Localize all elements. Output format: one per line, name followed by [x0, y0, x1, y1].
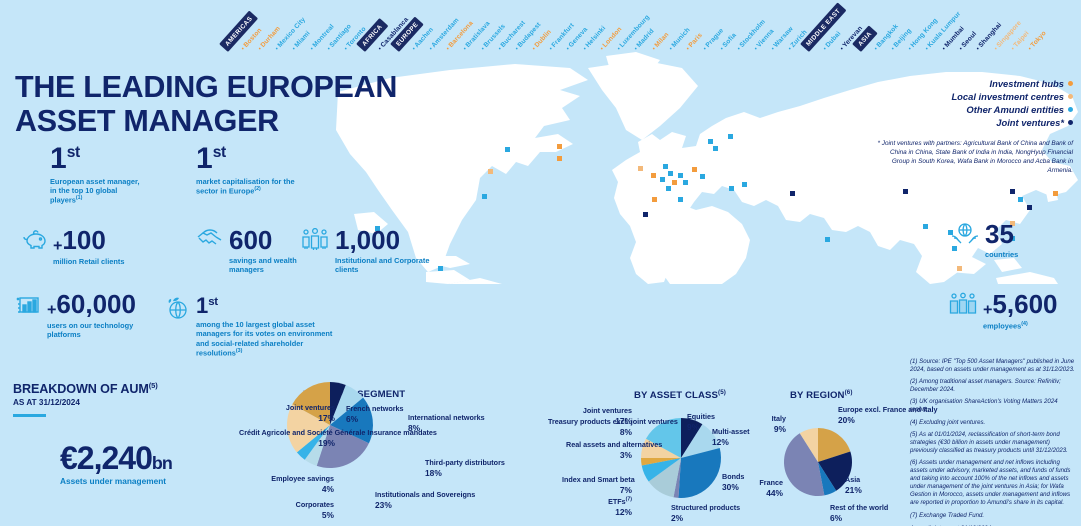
pie-label-name: Rest of the world [830, 503, 888, 512]
kpi-number: 60,000 [56, 289, 136, 319]
map-location-dot [1027, 205, 1032, 210]
pie-label-note: (7) [626, 497, 632, 503]
map-legend-footnote: * Joint ventures with partners: Agricult… [873, 139, 1073, 175]
pie-label-value: 19% [239, 438, 335, 449]
pie-chart-by-client-segment [287, 382, 373, 468]
chart-title-by-asset-class: BY ASSET CLASS(5) [634, 389, 726, 401]
kpi-value: 35 [985, 222, 1055, 247]
pie-label-value: 5% [276, 510, 334, 521]
breakdown-header: BREAKDOWN OF AUM(5) AS AT 31/12/2024 [13, 381, 158, 417]
legend-item-dot [1068, 120, 1073, 125]
pie-label-name: Asia [845, 475, 860, 484]
pie-chart-by-region [784, 428, 852, 496]
legend-item: Local investment centres [873, 91, 1073, 104]
footnote-item: (2) Among traditional asset managers. So… [910, 378, 1076, 394]
map-location-dot [638, 166, 643, 171]
legend-item-dot [1068, 94, 1073, 99]
kpi-number: 100 [62, 225, 105, 255]
map-location-dot [825, 237, 830, 242]
pie-chart-svg [287, 382, 373, 468]
legend-item-dot [1068, 107, 1073, 112]
map-legend: Investment hubsLocal investment centresO… [873, 78, 1073, 175]
kpi-note: (1) [76, 195, 83, 201]
map-location-dot [700, 174, 705, 179]
kpi-prefix: + [983, 300, 992, 318]
pie-label-value: 17% [580, 416, 632, 427]
legend-item: Investment hubs [873, 78, 1073, 91]
kpi-superscript: st [67, 144, 80, 161]
kpi-number: 5,600 [992, 289, 1057, 319]
people-group-icon [300, 228, 330, 255]
kpi-note: (2) [254, 186, 261, 192]
map-location-dot [957, 266, 962, 271]
pie-label: Europe excl. France and Italy20% [838, 405, 894, 425]
kpi-technology-platform-users: +60,000users on our technology platforms [16, 292, 157, 340]
aum-total: €2,240bn Assets under management [60, 442, 172, 486]
map-location-dot [692, 167, 697, 172]
kpi-number: 1 [50, 142, 67, 175]
map-location-dot [557, 144, 562, 149]
pie-label-value: 7% [562, 485, 632, 496]
kpi-label: European asset manager, in the top 10 gl… [50, 177, 146, 206]
employees-icon [948, 292, 978, 321]
breakdown-subtitle: AS AT 31/12/2024 [13, 398, 158, 407]
chart-title-note: (6) [845, 389, 853, 396]
pie-label-name: Index and Smart beta [562, 475, 635, 484]
aum-unit: bn [152, 453, 172, 473]
pie-label: Rest of the world6% [830, 503, 894, 523]
kpi-value: 1st [196, 296, 346, 317]
map-location-dot [678, 173, 683, 178]
pie-label: France44% [745, 478, 783, 498]
globe-leaf-icon [165, 296, 191, 325]
map-location-dot [1018, 197, 1023, 202]
map-location-dot [672, 180, 677, 185]
kpi-institutional-corporate-clients: 1,000Institutional and Corporate clients [300, 228, 445, 275]
breakdown-divider [13, 414, 46, 417]
pie-label: French networks6% [346, 404, 392, 424]
legend-item-dot [1068, 81, 1073, 86]
pie-label: Employee savings4% [240, 474, 334, 494]
pie-label-value: 18% [425, 468, 483, 479]
map-location-dot [557, 156, 562, 161]
pie-label-name: Joint ventures [583, 406, 632, 415]
kpi-label: employees(4) [983, 321, 1063, 331]
pie-label-name: Employee savings [271, 474, 334, 483]
map-location-dot [488, 169, 493, 174]
city-ribbon: AMERICAS• Boston• Durham• Mexico City• M… [0, 0, 1081, 52]
legend-item-label: Local investment centres [951, 91, 1064, 102]
kpi-number: 1,000 [335, 225, 400, 255]
pie-label: Joint ventures17% [580, 406, 632, 426]
infographic-page: AMERICAS• Boston• Durham• Mexico City• M… [0, 0, 1081, 526]
map-location-dot [678, 197, 683, 202]
pie-label-name: Corporates [296, 500, 334, 509]
pie-label-value: 12% [712, 437, 770, 448]
pie-label-value: 6% [830, 513, 894, 524]
map-location-dot [643, 212, 648, 217]
pie-label-name: Joint ventures [286, 403, 335, 412]
pie-chart-svg [784, 428, 852, 496]
pie-label-name: France [759, 478, 783, 487]
pie-label-value: 2% [671, 513, 723, 524]
legend-item-label: Investment hubs [990, 78, 1065, 89]
pie-label: Crédit Agricole and Société Générale Ins… [239, 428, 335, 448]
pie-label: Structured products2% [671, 503, 723, 523]
footnote-item: (1) Source: IPE "Top 500 Asset Managers"… [910, 358, 1076, 374]
map-location-dot [652, 197, 657, 202]
kpi-label: among the 10 largest global asset manage… [196, 320, 346, 358]
kpi-value: 1,000 [335, 228, 445, 253]
footnote-item: (6) Assets under management and net infl… [910, 459, 1076, 508]
kpi-value: +60,000 [47, 292, 157, 318]
page-title-line2: ASSET MANAGER [15, 104, 415, 138]
kpi-number: 1 [196, 293, 208, 318]
pie-label-name: International networks [408, 413, 485, 422]
pie-label: Italy9% [752, 414, 786, 434]
kpi-prefix: + [47, 300, 56, 318]
map-location-dot [683, 180, 688, 185]
pie-label-value: 9% [752, 424, 786, 435]
breakdown-title-note: (5) [149, 381, 158, 390]
map-legend-rows: Investment hubsLocal investment centresO… [873, 78, 1073, 130]
breakdown-title-text: BREAKDOWN OF AUM [13, 382, 149, 396]
pie-label-value: 8% [548, 427, 632, 438]
pie-label: Real assets and alternatives3% [566, 440, 632, 460]
kpi-label: countries [985, 250, 1055, 259]
map-location-dot [713, 146, 718, 151]
footnote-item: (5) As at 01/01/2024, reclassification o… [910, 431, 1076, 455]
kpi-label: users on our technology platforms [47, 321, 157, 340]
kpi-value: 1st [196, 145, 296, 174]
pie-label-value: 3% [566, 450, 632, 461]
globe-hands-icon [950, 222, 980, 251]
pie-label-value: 4% [240, 484, 334, 495]
map-location-dot [482, 194, 487, 199]
map-location-dot [663, 164, 668, 169]
kpi-number: 1 [196, 142, 213, 175]
kpi-value: +100 [53, 228, 163, 254]
map-location-dot [903, 189, 908, 194]
pie-label-name: Real assets and alternatives [566, 440, 662, 449]
pie-label-value: 44% [745, 488, 783, 499]
kpi-value: +5,600 [983, 292, 1063, 318]
kpi-number: 600 [229, 225, 272, 255]
pie-label-name: Third-party distributors [425, 458, 505, 467]
pie-label: Index and Smart beta7% [562, 475, 632, 495]
map-location-dot [1010, 189, 1015, 194]
pie-label: Asia21% [845, 475, 879, 495]
pie-label: Corporates5% [276, 500, 334, 520]
aum-label: Assets under management [60, 476, 172, 486]
map-location-dot [728, 134, 733, 139]
map-location-dot [666, 186, 671, 191]
pie-label-value: 12% [588, 507, 632, 518]
pie-label-name: Crédit Agricole and Société Générale Ins… [239, 428, 437, 437]
pie-label-name: Institutionals and Sovereigns [375, 490, 475, 499]
kpi-label: Institutional and Corporate clients [335, 256, 445, 275]
breakdown-title: BREAKDOWN OF AUM(5) [13, 381, 158, 396]
map-location-dot [651, 173, 656, 178]
pie-label-name: Italy [772, 414, 786, 423]
map-location-dot [923, 224, 928, 229]
page-title-line1: THE LEADING EUROPEAN [15, 70, 415, 104]
footnote-item: (7) Exchange Traded Fund. [910, 512, 1076, 520]
kpi-note: (3) [236, 348, 243, 354]
footnote-item: (4) Excluding joint ventures. [910, 419, 1076, 427]
footnote-item: (3) UK organisation ShareAction's Voting… [910, 398, 1076, 414]
pie-label: Joint ventures17% [255, 403, 335, 423]
kpi-employees: +5,600employees(4) [948, 292, 1063, 331]
pie-label-name: Equities [687, 412, 715, 421]
pie-label-value: 20% [838, 415, 894, 426]
pie-label: Third-party distributors18% [425, 458, 483, 478]
pie-label-name: ETFs(7) [608, 497, 632, 506]
kpi-retail-clients: +100million Retail clients [22, 228, 163, 266]
pie-label-value: 17% [255, 413, 335, 424]
pie-label-name: Structured products [671, 503, 740, 512]
map-location-dot [660, 177, 665, 182]
kpi-esg-voting: 1stamong the 10 largest global asset man… [165, 296, 346, 358]
map-location-dot [742, 182, 747, 187]
pie-label-value: 6% [346, 414, 392, 425]
kpi-market-capitalisation: 1stmarket capitalisation for the sector … [196, 145, 296, 196]
kpi-note: (4) [1021, 321, 1028, 327]
pie-label-value: 21% [845, 485, 879, 496]
legend-item-label: Other Amundi entities [966, 104, 1064, 115]
legend-item: Joint ventures* [873, 117, 1073, 130]
chart-title-note: (5) [718, 389, 726, 396]
kpi-number: 35 [985, 219, 1014, 249]
map-location-dot [1053, 191, 1058, 196]
kpi-label: market capitalisation for the sector in … [196, 177, 296, 196]
kpi-european-asset-manager: 1stEuropean asset manager, in the top 10… [50, 145, 146, 205]
kpi-prefix: + [53, 236, 62, 254]
kpi-superscript: st [208, 296, 218, 308]
pie-label-name: Multi-asset [712, 427, 750, 436]
kpi-superscript: st [213, 144, 226, 161]
aum-value: €2,240bn [60, 442, 172, 474]
map-location-dot [790, 191, 795, 196]
map-location-dot [729, 186, 734, 191]
piggy-bank-icon [22, 228, 48, 255]
map-location-dot [668, 171, 673, 176]
pie-label: Institutionals and Sovereigns23% [375, 490, 445, 510]
legend-item-label: Joint ventures* [996, 117, 1064, 128]
aum-amount: €2,240 [60, 440, 152, 476]
legend-item: Other Amundi entities [873, 104, 1073, 117]
pie-label-name: Bonds [722, 472, 744, 481]
map-location-dot [505, 147, 510, 152]
chart-title-by-region: BY REGION(6) [790, 389, 853, 401]
page-title: THE LEADING EUROPEAN ASSET MANAGER [15, 70, 415, 138]
bar-chart-icon [16, 292, 42, 321]
kpi-value: 1st [50, 145, 146, 174]
region-tag-americas: AMERICAS [219, 10, 258, 52]
pie-label-value: 23% [375, 500, 445, 511]
pie-label-name: French networks [346, 404, 404, 413]
handshake-icon [196, 228, 224, 253]
map-location-dot [708, 139, 713, 144]
footnotes: (1) Source: IPE "Top 500 Asset Managers"… [910, 358, 1076, 526]
pie-label: ETFs(7)12% [588, 497, 632, 517]
kpi-countries: 35countries [950, 222, 1055, 259]
kpi-label: million Retail clients [53, 257, 163, 266]
